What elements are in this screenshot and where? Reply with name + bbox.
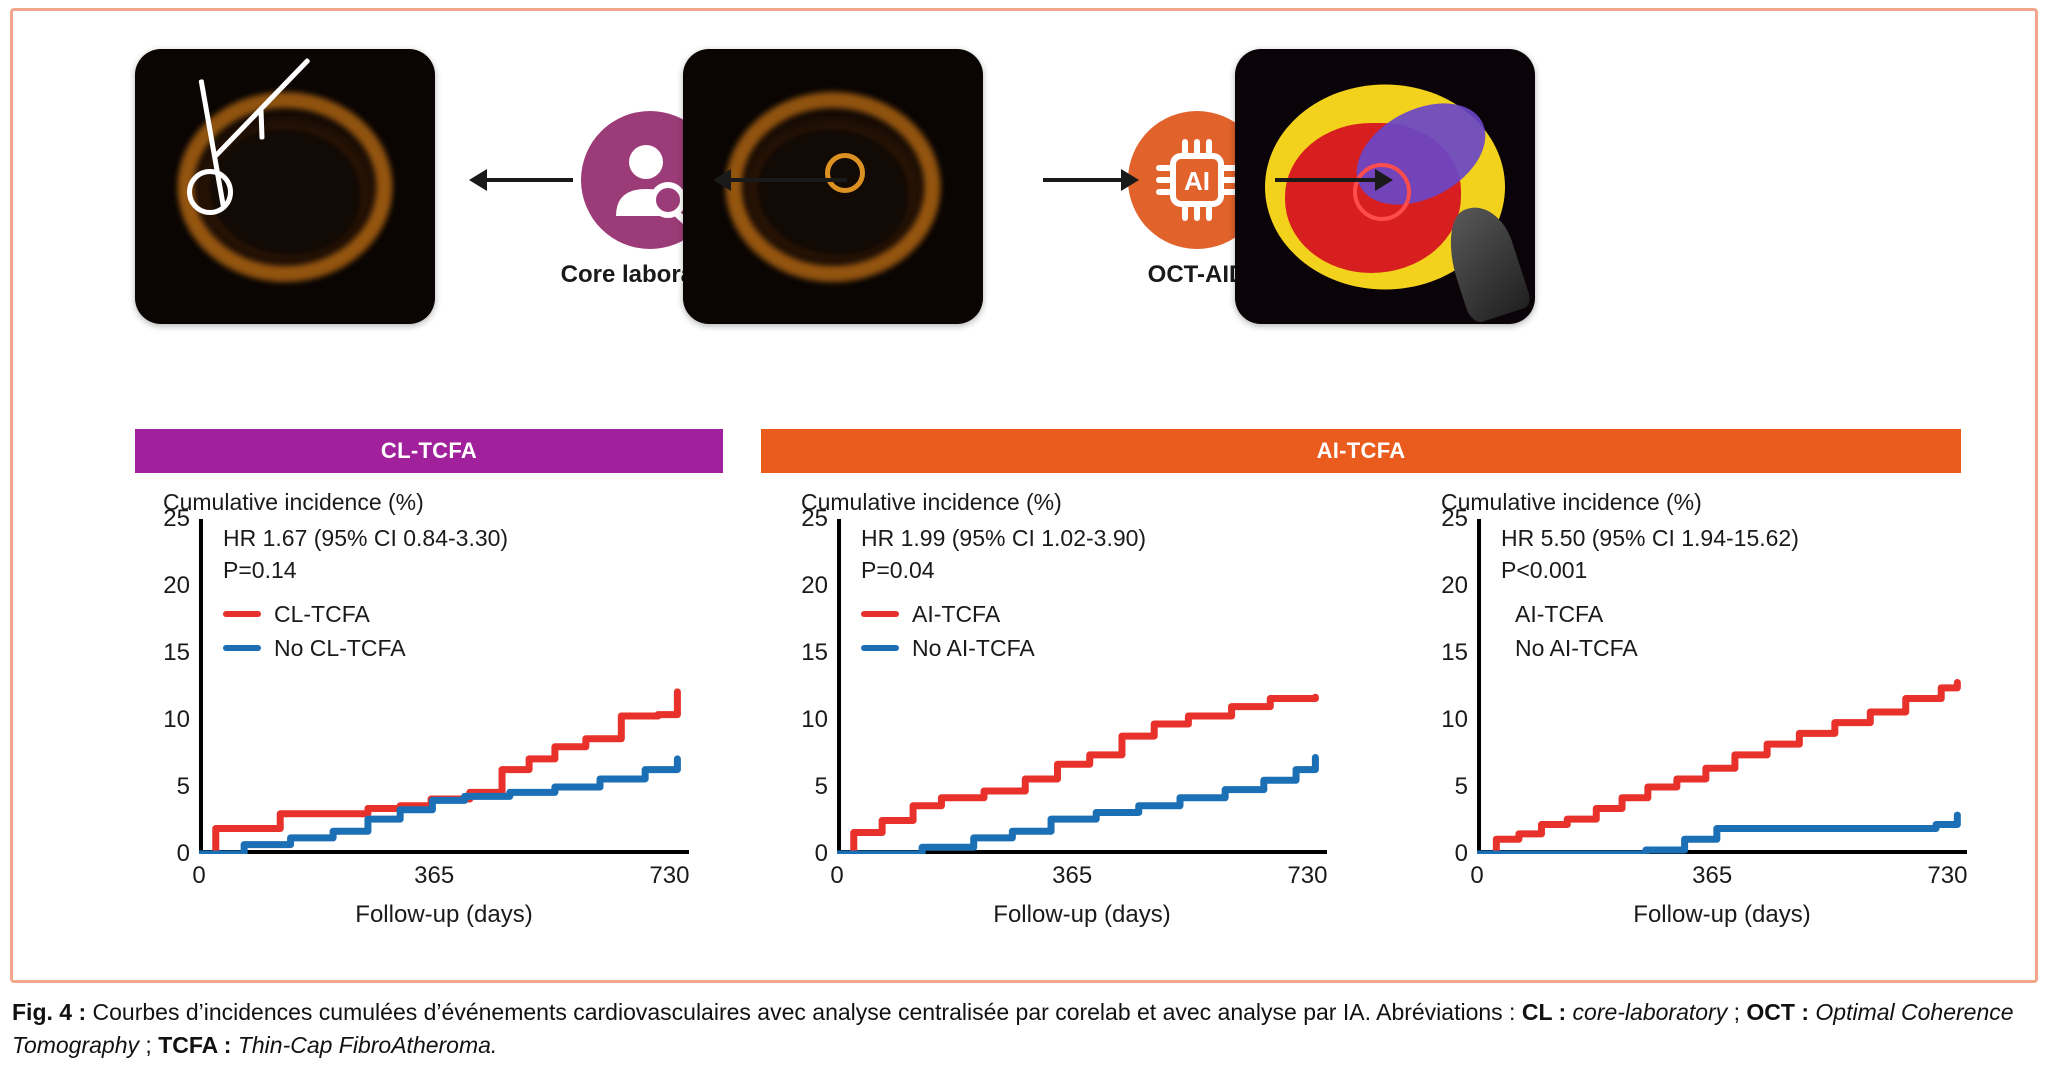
abbr-oct: OCT :: [1746, 999, 1809, 1025]
pointer-arrow-small: [259, 109, 265, 139]
y-tick-10: 10: [801, 706, 828, 734]
plot-area: 25 20 15 10 5 0 0 365 730 HR 1.99 (95% C…: [837, 519, 1327, 854]
p-value-text: P=0.14: [223, 555, 508, 587]
chart-legend: AI-TCFA No AI-TCFA: [1515, 597, 1638, 665]
banner-ai-tcfa: AI-TCFA: [761, 429, 1961, 473]
y-tick-0: 0: [1455, 840, 1468, 868]
curve-cl-tcfa: [199, 692, 677, 854]
legend-item: AI-TCFA: [1515, 597, 1638, 631]
legend-label: AI-TCFA: [912, 597, 1000, 631]
chart-legend: CL-TCFA No CL-TCFA: [223, 597, 406, 665]
y-tick-25: 25: [1441, 505, 1468, 533]
lumen-marker-circle: [187, 169, 233, 215]
y-tick-10: 10: [163, 706, 190, 734]
stats-annotation: HR 1.99 (95% CI 1.02-3.90) P=0.04: [861, 523, 1146, 586]
abbr-cl: CL :: [1522, 999, 1566, 1025]
y-tick-15: 15: [1441, 639, 1468, 667]
legend-label: AI-TCFA: [1515, 597, 1603, 631]
hazard-ratio-text: HR 5.50 (95% CI 1.94-15.62): [1501, 523, 1799, 555]
oct-center-circle: [825, 153, 865, 193]
y-tick-5: 5: [815, 773, 828, 801]
y-tick-20: 20: [801, 572, 828, 600]
figure-caption: Fig. 4 : Courbes d’incidences cumulées d…: [12, 996, 2036, 1063]
x-tick-365: 365: [1692, 862, 1732, 890]
caption-separator: ;: [139, 1032, 158, 1058]
plot-area: 25 20 15 10 5 0 0 365 730 HR 5.50 (95% C…: [1477, 519, 1967, 854]
y-tick-5: 5: [177, 773, 190, 801]
legend-swatch-blue: [223, 645, 261, 651]
hazard-ratio-text: HR 1.67 (95% CI 0.84-3.30): [223, 523, 508, 555]
chart-legend: AI-TCFA No AI-TCFA: [861, 597, 1035, 665]
svg-text:AI: AI: [1184, 166, 1210, 196]
legend-swatch-red: [223, 611, 261, 617]
y-axis-title: Cumulative incidence (%): [801, 489, 1062, 516]
x-tick-0: 0: [192, 862, 205, 890]
chart-panel-ai-tcfa-2: Cumulative incidence (%) 25 20 15 10 5 0…: [1413, 489, 2013, 949]
legend-label: No AI-TCFA: [912, 631, 1035, 665]
x-tick-730: 730: [649, 862, 689, 890]
caption-separator: ;: [1727, 999, 1746, 1025]
y-tick-0: 0: [815, 840, 828, 868]
p-value-text: P<0.001: [1501, 555, 1799, 587]
y-tick-0: 0: [177, 840, 190, 868]
stats-annotation: HR 5.50 (95% CI 1.94-15.62) P<0.001: [1501, 523, 1799, 586]
curve-no-ai-tcfa: [837, 758, 1315, 854]
x-tick-365: 365: [414, 862, 454, 890]
y-tick-25: 25: [801, 505, 828, 533]
banner-cl-tcfa: CL-TCFA: [135, 429, 723, 473]
y-tick-20: 20: [163, 572, 190, 600]
x-tick-0: 0: [830, 862, 843, 890]
arrow-to-annotated-image: [487, 178, 573, 182]
x-tick-0: 0: [1470, 862, 1483, 890]
y-axis-title: Cumulative incidence (%): [163, 489, 424, 516]
oct-image-annotated: [135, 49, 435, 324]
x-axis-title: Follow-up (days): [1477, 901, 1967, 929]
x-tick-730: 730: [1927, 862, 1967, 890]
banner-cl-tcfa-label: CL-TCFA: [381, 438, 477, 464]
abbr-tcfa: TCFA :: [158, 1032, 231, 1058]
y-tick-25: 25: [163, 505, 190, 533]
caption-body: Courbes d’incidences cumulées d’événemen…: [86, 999, 1522, 1025]
legend-item: No CL-TCFA: [223, 631, 406, 665]
legend-label: No AI-TCFA: [1515, 631, 1638, 665]
y-tick-5: 5: [1455, 773, 1468, 801]
arrow-from-raw-to-ai: [1043, 178, 1121, 182]
x-axis-title: Follow-up (days): [199, 901, 689, 929]
legend-item: AI-TCFA: [861, 597, 1035, 631]
stats-annotation: HR 1.67 (95% CI 0.84-3.30) P=0.14: [223, 523, 508, 586]
banner-ai-tcfa-label: AI-TCFA: [1317, 438, 1406, 464]
x-tick-730: 730: [1287, 862, 1327, 890]
legend-label: No CL-TCFA: [274, 631, 406, 665]
legend-swatch-blue: [861, 645, 899, 651]
legend-item: No AI-TCFA: [861, 631, 1035, 665]
figure-label: Fig. 4 :: [12, 999, 86, 1025]
arrow-to-segmented-image: [1275, 178, 1375, 182]
y-tick-15: 15: [163, 639, 190, 667]
legend-label: CL-TCFA: [274, 597, 370, 631]
curve-no-cl-tcfa: [199, 759, 677, 854]
x-axis-title: Follow-up (days): [837, 901, 1327, 929]
hazard-ratio-text: HR 1.99 (95% CI 1.02-3.90): [861, 523, 1146, 555]
p-value-text: P=0.04: [861, 555, 1146, 587]
y-tick-20: 20: [1441, 572, 1468, 600]
legend-item: No AI-TCFA: [1515, 631, 1638, 665]
chart-panel-cl-tcfa: Cumulative incidence (%) 25 20 15 10 5 0…: [135, 489, 735, 949]
y-tick-15: 15: [801, 639, 828, 667]
plot-area: 25 20 15 10 5 0 0 365 730 HR 1.67 (95% C…: [199, 519, 689, 854]
abbr-cl-definition: core-laboratory: [1566, 999, 1727, 1025]
workflow-diagram: Core laboratory AI OCT-AID: [13, 49, 2041, 329]
legend-item: CL-TCFA: [223, 597, 406, 631]
curve-no-ai-tcfa: [1477, 815, 1957, 854]
chart-panel-ai-tcfa-1: Cumulative incidence (%) 25 20 15 10 5 0…: [773, 489, 1373, 949]
arrow-from-raw-to-corelab: [731, 178, 847, 182]
legend-swatch-red: [861, 611, 899, 617]
figure-frame: Core laboratory AI OCT-AID: [10, 8, 2038, 983]
abbr-tcfa-definition: Thin-Cap FibroAtheroma.: [231, 1032, 497, 1058]
y-tick-10: 10: [1441, 706, 1468, 734]
curve-ai-tcfa: [837, 697, 1315, 854]
x-tick-365: 365: [1052, 862, 1092, 890]
y-axis-title: Cumulative incidence (%): [1441, 489, 1702, 516]
